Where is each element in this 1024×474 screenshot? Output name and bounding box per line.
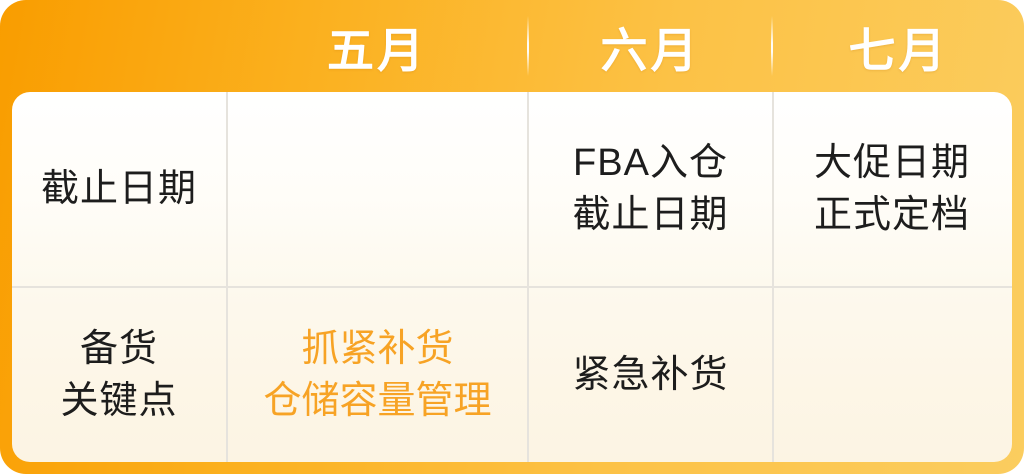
header-month-label-july: 七月 [849, 12, 949, 81]
cell-keypoint-may: 抓紧补货 仓储容量管理 [226, 288, 527, 462]
header-cell-july: 七月 [773, 0, 1024, 92]
table-row: 备货 关键点 抓紧补货 仓储容量管理 紧急补货 [12, 286, 1012, 462]
cell-keypoint-july [772, 288, 1010, 462]
cell-text-line: 紧急补货 [572, 349, 728, 401]
cell-text-line: FBA入仓 [573, 137, 728, 189]
row-label-line: 关键点 [60, 375, 177, 427]
header-divider-june-july [771, 16, 773, 76]
cell-deadline-june: FBA入仓 截止日期 [527, 92, 772, 286]
cell-text-line: 抓紧补货 [301, 323, 453, 375]
header-cell-may: 五月 [226, 0, 528, 92]
cell-deadline-july: 大促日期 正式定档 [772, 92, 1010, 286]
header-month-label-may: 五月 [327, 12, 427, 81]
cell-text-line: 正式定档 [814, 189, 970, 241]
cell-text-line: 仓储容量管理 [263, 375, 491, 427]
header-cell-blank [0, 0, 226, 92]
header-month-label-june: 六月 [601, 12, 701, 81]
cell-text-line: 截止日期 [572, 189, 728, 241]
row-label-deadline: 截止日期 [12, 92, 226, 286]
cell-deadline-may [226, 92, 527, 286]
table-row: 截止日期 FBA入仓 截止日期 大促日期 正式定档 [12, 92, 1012, 286]
header-cell-june: 六月 [528, 0, 773, 92]
table-body: 截止日期 FBA入仓 截止日期 大促日期 正式定档 备货 关键点 抓紧补货 仓储… [12, 92, 1012, 462]
row-label-line: 截止日期 [41, 163, 197, 215]
cell-text-line: 大促日期 [814, 137, 970, 189]
cell-keypoint-june: 紧急补货 [527, 288, 772, 462]
row-label-line: 备货 [80, 323, 158, 375]
header-divider-may-june [527, 16, 529, 76]
schedule-table-card: 五月 六月 七月 截止日期 FBA入仓 截止日期 大促日期 正式定档 [0, 0, 1024, 474]
row-label-stocking-keypoint: 备货 关键点 [12, 288, 226, 462]
table-header-row: 五月 六月 七月 [0, 0, 1024, 92]
